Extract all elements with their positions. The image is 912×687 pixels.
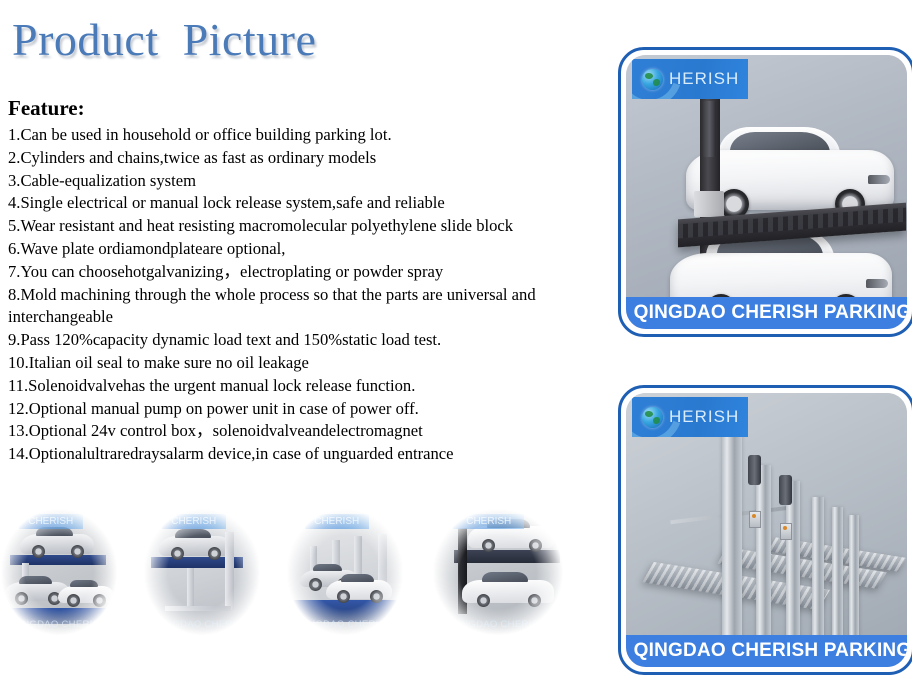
globe-icon: [642, 69, 663, 90]
thumbnail-car: [468, 526, 554, 548]
thumbnail-car: [58, 586, 114, 603]
car-wheel: [309, 578, 322, 591]
car-wheel: [67, 594, 80, 607]
feature-heading: Feature:: [8, 96, 85, 121]
product-picture-page: Product Picture Feature: 1.Can be used i…: [0, 0, 912, 687]
thumbnail-car: [326, 580, 392, 599]
herish-brand-text: HERISH: [669, 69, 739, 89]
thumbnail-4[interactable]: CHERISH QINGDAO CHERISH: [432, 508, 564, 636]
car-wheel: [529, 539, 542, 552]
car-window: [313, 564, 342, 571]
feature-item: 8.Mold machining through the whole proce…: [8, 284, 608, 330]
herish-brand-text: HERISH: [669, 407, 739, 427]
car-wheel: [93, 594, 106, 607]
herish-watermark-logo: HERISH: [632, 397, 748, 437]
car-wheel: [15, 592, 28, 605]
product-caption-text: QINGDAO CHERISH PARKING: [634, 640, 907, 662]
product-image-1: HERISH QINGDAO CHERISH PARKING: [626, 55, 907, 329]
thumbnail-3[interactable]: CHERISH QINGDAO CHERISH: [286, 508, 404, 636]
car-wheel: [482, 539, 495, 552]
product-image-card-2[interactable]: HERISH QINGDAO CHERISH PARKING: [618, 385, 912, 675]
thumbnail-2[interactable]: CHERISH QINGDAO CHERISH: [143, 508, 261, 636]
lift-base-rail: [165, 606, 231, 611]
thumbnail-car: [159, 536, 231, 556]
lift-column: [832, 507, 843, 635]
thumbnail-1[interactable]: CHERISH QINGDAO CHERISH: [0, 508, 118, 636]
product-caption-bar-2: QINGDAO CHERISH PARKING: [626, 635, 907, 667]
lift-platform: [454, 550, 560, 563]
product-caption-text: QINGDAO CHERISH PARKING: [634, 302, 907, 324]
feature-item: 6.Wave plate ordiamondplateare optional,: [8, 238, 608, 261]
feature-item: 13.Optional 24v control box，solenoidvalv…: [8, 420, 608, 443]
thumbnail-watermark-top: CHERISH: [305, 514, 369, 529]
hydraulic-cylinder: [703, 101, 716, 157]
car-headlight: [866, 279, 888, 288]
car-wheel: [477, 594, 490, 607]
feature-item: 14.Optionalultraredraysalarm device,in c…: [8, 443, 608, 466]
herish-watermark-logo: HERISH: [632, 59, 748, 99]
thumbnail-car: [462, 580, 554, 603]
power-unit: [779, 475, 792, 505]
page-title: Product Picture: [12, 13, 316, 66]
lower-car: [670, 253, 892, 297]
lift-column: [849, 515, 859, 635]
car-body: [670, 253, 892, 297]
thumbnail-watermark-top: CHERISH: [19, 514, 83, 529]
car-wheel: [208, 547, 221, 560]
car-wheel: [528, 594, 541, 607]
thumbnail-watermark-bottom: QINGDAO CHERISH: [432, 619, 564, 630]
thumbnail-watermark-top: CHERISH: [453, 514, 524, 529]
thumbnail-watermark-bottom: QINGDAO CHERISH: [286, 619, 404, 630]
lift-column: [756, 465, 771, 635]
lift-column: [722, 421, 742, 635]
car-window: [70, 580, 98, 587]
car-window: [175, 529, 211, 537]
car-wheel: [71, 545, 84, 558]
feature-item: 9.Pass 120%capacity dynamic load text an…: [8, 329, 608, 352]
globe-icon: [642, 407, 663, 428]
car-wheel: [171, 547, 184, 560]
car-headlight: [868, 175, 890, 184]
feature-item: 10.Italian oil seal to make sure no oil …: [8, 352, 608, 375]
thumbnail-watermark-bottom: QINGDAO CHERISH: [0, 619, 118, 630]
lift-carriage: [694, 191, 724, 217]
lift-column: [812, 497, 824, 635]
car-wheel: [370, 590, 383, 603]
car-window: [19, 576, 52, 584]
car-wheel: [32, 545, 45, 558]
lift-column: [378, 534, 387, 586]
power-unit: [748, 455, 761, 485]
car-window: [341, 574, 374, 582]
thumbnail-watermark-top: CHERISH: [162, 514, 226, 529]
product-caption-bar-1: QINGDAO CHERISH PARKING: [626, 297, 907, 329]
feature-item: 3.Cable-equalization system: [8, 170, 608, 193]
feature-item: 12.Optional manual pump on power unit in…: [8, 398, 608, 421]
control-box: [780, 523, 792, 540]
feature-item: 2.Cylinders and chains,twice as fast as …: [8, 147, 608, 170]
feature-list: 1.Can be used in household or office bui…: [8, 124, 608, 466]
feature-item: 11.Solenoidvalvehas the urgent manual lo…: [8, 375, 608, 398]
product-image-card-1[interactable]: HERISH QINGDAO CHERISH PARKING: [618, 47, 912, 337]
thumbnail-car: [20, 534, 94, 554]
control-box: [749, 511, 761, 528]
feature-item: 1.Can be used in household or office bui…: [8, 124, 608, 147]
feature-item: 5.Wear resistant and heat resisting macr…: [8, 215, 608, 238]
feature-item: 4.Single electrical or manual lock relea…: [8, 192, 608, 215]
thumbnail-watermark-bottom: QINGDAO CHERISH: [143, 619, 261, 630]
car-wheel: [337, 590, 350, 603]
car-window: [482, 572, 528, 582]
feature-item: 7.You can choosehotgalvanizing，electropl…: [8, 261, 608, 284]
product-image-2: HERISH QINGDAO CHERISH PARKING: [626, 393, 907, 667]
thumbnail-strip: CHERISH QINGDAO CHERISH CHERISH QINGDAO …: [0, 508, 600, 640]
lift-column: [225, 532, 234, 610]
lift-cylinder: [187, 568, 194, 610]
